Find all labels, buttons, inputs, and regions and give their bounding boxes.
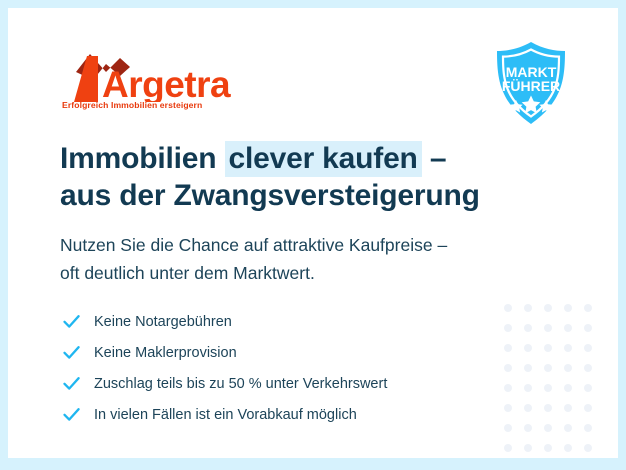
dot <box>524 344 532 352</box>
dot <box>544 304 552 312</box>
dot <box>544 404 552 412</box>
dot <box>524 444 532 452</box>
list-item: Zuschlag teils bis zu 50 % unter Verkehr… <box>62 368 387 399</box>
argetra-logo[interactable]: Argetra Erfolgreich Immobilien ersteiger… <box>60 50 260 102</box>
headline-highlight: clever kaufen <box>225 141 422 177</box>
dot <box>584 364 592 372</box>
dot <box>564 424 572 432</box>
dot <box>564 324 572 332</box>
dot <box>504 444 512 452</box>
dot <box>584 344 592 352</box>
dot <box>504 364 512 372</box>
dot <box>544 344 552 352</box>
dot <box>504 424 512 432</box>
check-icon <box>62 405 81 424</box>
dot <box>564 364 572 372</box>
dot <box>564 304 572 312</box>
dot <box>524 304 532 312</box>
dot <box>524 384 532 392</box>
headline-part2: – <box>422 142 447 175</box>
dot <box>564 344 572 352</box>
argetra-a-roof-icon: Argetra <box>60 50 260 102</box>
shield-badge-icon: MARKT FÜHRER <box>492 40 570 126</box>
benefit-label: Zuschlag teils bis zu 50 % unter Verkehr… <box>94 376 387 392</box>
subheadline: Nutzen Sie die Chance auf attraktive Kau… <box>60 231 447 287</box>
dot-grid-icon <box>504 304 604 458</box>
dot <box>584 304 592 312</box>
list-item: Keine Maklerprovision <box>62 337 387 368</box>
dot <box>504 304 512 312</box>
dot <box>524 404 532 412</box>
page-title: Immobilien clever kaufen – aus der Zwang… <box>60 140 480 214</box>
dot <box>564 384 572 392</box>
dot <box>584 444 592 452</box>
benefits-list: Keine NotargebührenKeine Maklerprovision… <box>62 306 387 430</box>
promo-banner: Argetra Erfolgreich Immobilien ersteiger… <box>0 0 626 470</box>
dot <box>564 444 572 452</box>
dot <box>504 344 512 352</box>
check-icon <box>62 312 81 331</box>
benefit-label: In vielen Fällen ist ein Vorabkauf mögli… <box>94 407 357 423</box>
banner-canvas: Argetra Erfolgreich Immobilien ersteiger… <box>8 8 618 458</box>
list-item: Keine Notargebühren <box>62 306 387 337</box>
markt-fuehrer-badge: MARKT FÜHRER <box>492 40 570 126</box>
dot <box>504 404 512 412</box>
dot <box>524 324 532 332</box>
list-item: In vielen Fällen ist ein Vorabkauf mögli… <box>62 399 387 430</box>
headline-line2: aus der Zwangsversteigerung <box>60 177 480 214</box>
dot <box>504 324 512 332</box>
check-icon <box>62 374 81 393</box>
badge-line2-text: FÜHRER <box>502 78 560 94</box>
dot <box>544 424 552 432</box>
dot <box>584 404 592 412</box>
dot <box>584 384 592 392</box>
dot <box>544 364 552 372</box>
headline-part1: Immobilien <box>60 142 225 175</box>
dot <box>504 384 512 392</box>
dot <box>584 424 592 432</box>
subheadline-line2: oft deutlich unter dem Marktwert. <box>60 263 315 283</box>
dot <box>524 364 532 372</box>
svg-text:Argetra: Argetra <box>102 64 231 102</box>
logo-tagline: Erfolgreich Immobilien ersteigern <box>62 100 202 110</box>
dot <box>584 324 592 332</box>
dot <box>544 324 552 332</box>
dot <box>564 404 572 412</box>
logo-mark-row: Argetra <box>60 50 260 102</box>
dot <box>524 424 532 432</box>
dot <box>544 384 552 392</box>
dot <box>544 444 552 452</box>
subheadline-line1: Nutzen Sie die Chance auf attraktive Kau… <box>60 235 447 255</box>
benefit-label: Keine Notargebühren <box>94 314 232 330</box>
check-icon <box>62 343 81 362</box>
benefit-label: Keine Maklerprovision <box>94 345 237 361</box>
